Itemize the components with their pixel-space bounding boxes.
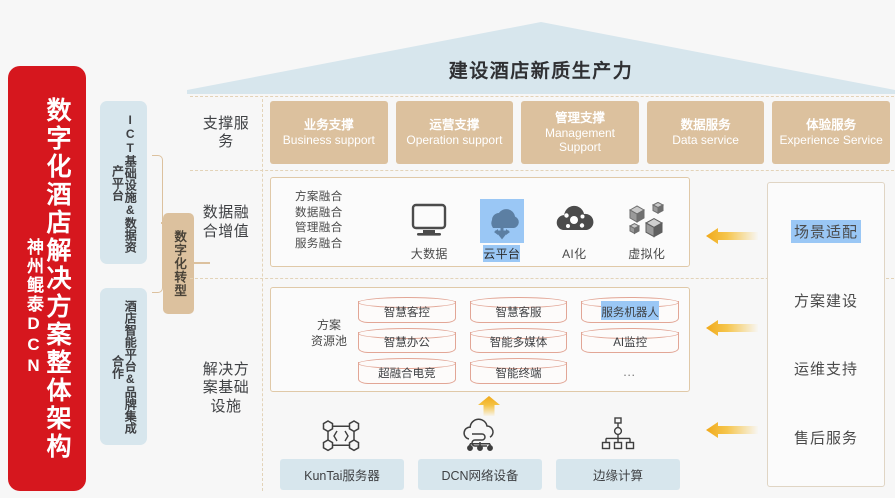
row-label-support: 支撑服务: [196, 100, 256, 166]
support-service-cn: 管理支撑: [555, 111, 605, 126]
resource-pool-grid: 智慧客控智慧客服服务机器人智慧办公智能多媒体AI监控超融合电竞智能终端…: [356, 296, 681, 386]
ai-cloud-icon: [552, 199, 596, 243]
resource-pool-item-label: 智能多媒体: [490, 331, 548, 350]
digital-transform-box: 数字化转型: [163, 213, 194, 314]
fusion-item[interactable]: 云平台: [466, 186, 539, 262]
monitor-icon: [407, 199, 451, 243]
ict-platform-label: ICT基础设施&数据资产平台: [111, 107, 136, 258]
support-service-en: Management Support: [523, 126, 637, 155]
resource-pool-item-label: 智慧办公: [384, 331, 430, 350]
left-arrow-icon-1: [706, 228, 758, 244]
right-service-item[interactable]: 方案建设: [791, 289, 861, 312]
resource-pool-label-line: 资源池: [299, 334, 359, 350]
resource-pool-item[interactable]: 智能多媒体: [468, 327, 570, 356]
cloud-sync-icon: [480, 199, 524, 243]
roof-title: 建设酒店新质生产力: [187, 22, 895, 94]
infrastructure-item[interactable]: KunTai服务器: [280, 418, 404, 490]
resource-pool-label: 方案资源池: [299, 318, 359, 349]
fusion-item-label: 大数据: [411, 245, 448, 262]
right-service-item[interactable]: 运维支持: [791, 357, 861, 380]
left-arrow-icon-2: [706, 320, 758, 336]
cloud-network-icon: [457, 418, 503, 454]
resource-pool-label-line: 方案: [299, 318, 359, 334]
support-service-cn: 体验服务: [806, 118, 856, 133]
fusion-item-label: 虚拟化: [628, 245, 665, 262]
resource-pool-item-label: 超融合电竞: [378, 362, 436, 381]
resource-pool-item[interactable]: AI监控: [579, 327, 681, 356]
separator-1: [190, 96, 894, 97]
up-arrow-icon: [477, 396, 501, 416]
support-service-card[interactable]: 体验服务Experience Service: [772, 101, 890, 164]
data-fusion-panel: 方案融合数据融合管理融合服务融合 大数据云平台AI化虚拟化: [270, 177, 690, 267]
resource-pool-item[interactable]: 智慧客控: [356, 296, 458, 325]
resource-pool-item-label: 服务机器人: [601, 301, 659, 320]
resource-pool-item-label: 智能终端: [495, 362, 541, 381]
fusion-line: 服务融合: [295, 237, 343, 253]
cubes-icon: [625, 199, 669, 243]
row-label-data: 数据融合增值: [196, 175, 256, 270]
support-service-en: Data service: [672, 133, 739, 147]
fusion-line: 数据融合: [295, 206, 343, 222]
fusion-item-label: AI化: [562, 245, 586, 262]
row-label-support-text: 支撑服务: [196, 115, 256, 152]
support-service-en: Operation support: [406, 133, 502, 147]
fusion-item-label: 云平台: [483, 245, 520, 262]
infrastructure-row: KunTai服务器DCN网络设备边缘计算: [280, 418, 680, 490]
fusion-line: 方案融合: [295, 190, 343, 206]
support-service-card[interactable]: 数据服务Data service: [647, 101, 765, 164]
resource-pool-item-label: 智慧客控: [384, 301, 430, 320]
support-service-cn: 业务支撑: [304, 118, 354, 133]
ict-platform-box: ICT基础设施&数据资产平台: [100, 101, 147, 264]
resource-pool-item-label: AI监控: [613, 331, 647, 350]
server-cluster-icon: [320, 418, 364, 454]
hotel-platform-box: 酒店智能平台&品牌集成合作: [100, 288, 147, 445]
row-label-infra-text: 解决方案基础设施: [196, 361, 256, 416]
roof-shape: 建设酒店新质生产力: [187, 22, 895, 94]
right-service-item[interactable]: 售后服务: [791, 426, 861, 449]
row-label-data-text: 数据融合增值: [196, 204, 256, 241]
fusion-item[interactable]: 虚拟化: [611, 186, 684, 262]
resource-pool-item[interactable]: 超融合电竞: [356, 357, 458, 386]
resource-pool-more: …: [579, 357, 681, 386]
fusion-line: 管理融合: [295, 221, 343, 237]
fusion-text-list: 方案融合数据融合管理融合服务融合: [295, 190, 343, 252]
support-service-en: Experience Service: [779, 133, 882, 147]
infrastructure-item-label: KunTai服务器: [280, 459, 404, 490]
infrastructure-item-label: DCN网络设备: [418, 459, 542, 490]
left-arrow-icon-3: [706, 422, 758, 438]
banner-main-title: 数字化酒店解决方案整体架构: [44, 97, 69, 461]
right-service-item[interactable]: 场景适配: [791, 220, 861, 243]
infrastructure-item[interactable]: 边缘计算: [556, 418, 680, 490]
fusion-icons-row: 大数据云平台AI化虚拟化: [393, 186, 683, 262]
resource-pool-item[interactable]: 服务机器人: [579, 296, 681, 325]
right-services-panel: 场景适配方案建设运维支持售后服务: [767, 182, 885, 487]
bracket-connector: [152, 155, 163, 293]
fusion-item[interactable]: 大数据: [393, 186, 466, 262]
title-banner: 数字化酒店解决方案整体架构 神州鲲泰DCN: [8, 66, 86, 491]
support-services-row: 业务支撑Business support运营支撑Operation suppor…: [270, 101, 890, 164]
digital-transform-label: 数字化转型: [172, 230, 185, 298]
banner-sub-title: 神州鲲泰DCN: [25, 238, 42, 377]
resource-pool-item-label: 智慧客服: [495, 301, 541, 320]
hotel-platform-label: 酒店智能平台&品牌集成合作: [111, 294, 136, 439]
support-service-cn: 数据服务: [681, 118, 731, 133]
fusion-item[interactable]: AI化: [538, 186, 611, 262]
support-service-card[interactable]: 业务支撑Business support: [270, 101, 388, 164]
row-label-infra: 解决方案基础设施: [196, 286, 256, 491]
support-service-card[interactable]: 运营支撑Operation support: [396, 101, 514, 164]
resource-pool-item[interactable]: 智慧办公: [356, 327, 458, 356]
infrastructure-item[interactable]: DCN网络设备: [418, 418, 542, 490]
resource-pool-item[interactable]: 智能终端: [468, 357, 570, 386]
vertical-separator: [262, 99, 263, 491]
separator-2: [190, 170, 894, 171]
support-service-cn: 运营支撑: [429, 118, 479, 133]
resource-pool-panel: 方案资源池 智慧客控智慧客服服务机器人智慧办公智能多媒体AI监控超融合电竞智能终…: [270, 287, 690, 392]
support-service-en: Business support: [283, 133, 375, 147]
edge-compute-icon: [598, 418, 638, 454]
resource-pool-item[interactable]: 智慧客服: [468, 296, 570, 325]
architecture-diagram: 数字化酒店解决方案整体架构 神州鲲泰DCN ICT基础设施&数据资产平台 酒店智…: [0, 0, 895, 498]
support-service-card[interactable]: 管理支撑Management Support: [521, 101, 639, 164]
infrastructure-item-label: 边缘计算: [556, 459, 680, 490]
